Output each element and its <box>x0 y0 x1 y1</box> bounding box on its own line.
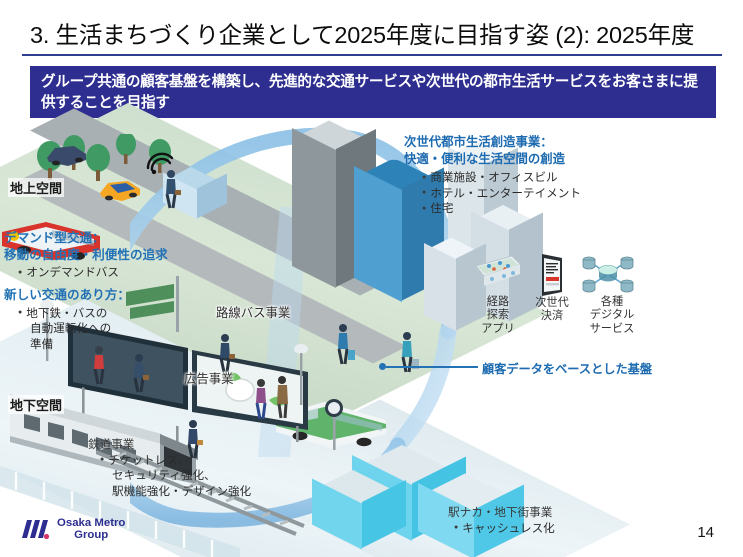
callout-next-gen-bullet-1: 商業施設・オフィスビル <box>422 170 581 186</box>
page-title: 3. 生活まちづくり企業として2025年度に目指す姿 (2): 2025年度 <box>30 16 694 50</box>
callout-railway-bullet-1: チケットレス、 <box>100 453 251 469</box>
route-search-caption-line-2: 探索 <box>474 309 522 322</box>
digital-caption-line-3: サービス <box>584 323 640 336</box>
page-number: 14 <box>697 524 714 541</box>
callout-next-gen-bullet-2: ホテル・エンターテイメント <box>422 186 581 202</box>
next-gen-payment-caption: 次世代 決済 <box>528 297 576 324</box>
person-businessman-2 <box>214 332 236 374</box>
person-businessman-3 <box>128 352 150 394</box>
callout-next-gen-head-2: 快適・便利な生活空間の創造 <box>404 151 581 168</box>
route-search-caption-line-1: 経路 <box>474 296 522 309</box>
osaka-metro-mark-icon <box>20 518 50 540</box>
digital-caption-line-1: 各種 <box>584 296 640 309</box>
callout-new-transport-bullet-2: 自動運転化への <box>30 321 130 337</box>
callout-new-transport: 新しい交通のあり方： 地下鉄・バスの 自動運転化への 準備 <box>4 287 130 353</box>
callout-station-underground: 駅ナカ・地下街事業 キャッシュレス化 <box>448 505 555 536</box>
autonomous-car-icon <box>96 174 144 204</box>
callout-new-transport-head: 新しい交通のあり方： <box>4 287 130 304</box>
callout-railway-bullet-2: セキュリティ強化、 <box>112 468 251 484</box>
callout-demand-transport: デマンド型交通： 移動の自由度・利便性の追求 オンデマンドバス <box>4 230 168 281</box>
logo-line-1: Osaka Metro <box>57 517 125 529</box>
payment-caption-line-2: 決済 <box>528 310 576 323</box>
customer-base-connector-dot <box>379 363 386 370</box>
digital-services-caption: 各種 デジタル サービス <box>584 296 640 336</box>
customer-base-label: 顧客データをベースとした基盤 <box>482 359 652 377</box>
street-clock <box>322 398 348 452</box>
callout-next-gen-head-1: 次世代都市生活創造事業： <box>404 134 581 151</box>
transit-kiosk <box>176 170 236 226</box>
osaka-metro-logo: Osaka Metro Group <box>20 517 125 542</box>
label-underground: 地下空間 <box>8 395 64 414</box>
title-divider <box>22 54 722 56</box>
callout-railway-bullet-3: 駅機能強化・デザイン強化 <box>112 484 251 500</box>
person-traveler-suitcase <box>332 322 356 368</box>
label-advertising-business: 広告事業 <box>184 369 234 387</box>
label-bus-route-business: 路線バス事業 <box>216 303 290 321</box>
callout-new-transport-bullet-1: 地下鉄・バスの <box>18 306 130 322</box>
callout-railway: 鉄道事業 チケットレス、 セキュリティ強化、 駅機能強化・デザイン強化 <box>88 437 251 500</box>
person-businessman-1 <box>160 168 182 210</box>
person-brown-coat <box>270 374 294 420</box>
callout-demand-head-1: デマンド型交通： <box>4 230 168 247</box>
station-mall-building-c <box>320 474 430 557</box>
digital-services-icon <box>578 252 638 298</box>
callout-demand-head-2: 移動の自由度・利便性の追求 <box>4 247 168 264</box>
digital-caption-line-2: デジタル <box>584 309 640 322</box>
callout-station-head: 駅ナカ・地下街事業 <box>448 505 555 521</box>
callout-station-bullet-1: キャッシュレス化 <box>454 521 555 537</box>
dark-vehicle-icon <box>44 140 90 170</box>
label-above-ground: 地上空間 <box>8 178 64 197</box>
route-search-caption-line-3: アプリ <box>474 323 522 336</box>
route-search-app-icon <box>472 252 524 296</box>
customer-base-connector-line <box>386 366 478 368</box>
route-search-app-caption: 経路 探索 アプリ <box>474 296 522 336</box>
slide-root: 3. 生活まちづくり企業として2025年度に目指す姿 (2): 2025年度 グ… <box>0 0 743 557</box>
callout-next-gen-bullet-3: 住宅 <box>422 201 581 217</box>
callout-railway-head: 鉄道事業 <box>88 437 251 453</box>
street-lamp-right <box>290 342 320 412</box>
next-gen-payment-icon <box>534 252 570 298</box>
road-sign-gantry <box>120 272 210 342</box>
osaka-metro-logo-text: Osaka Metro Group <box>57 517 125 542</box>
logo-line-2: Group <box>57 529 125 541</box>
person-traveler-2 <box>396 330 420 376</box>
callout-next-gen-city: 次世代都市生活創造事業： 快適・便利な生活空間の創造 商業施設・オフィスビル ホ… <box>404 134 581 217</box>
callout-demand-bullet-1: オンデマンドバス <box>18 265 168 281</box>
callout-new-transport-bullet-3: 準備 <box>30 337 130 353</box>
payment-caption-line-1: 次世代 <box>528 297 576 310</box>
